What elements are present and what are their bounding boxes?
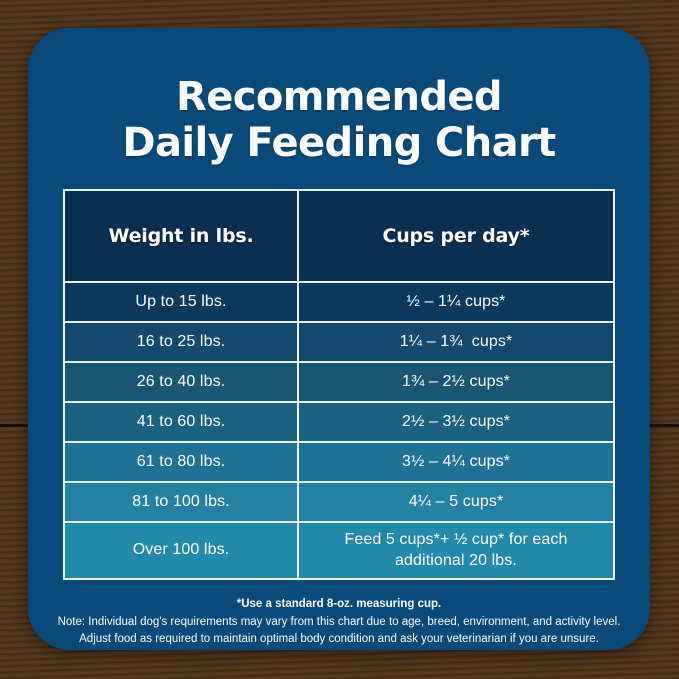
cell-weight: 16 to 25 lbs. [65, 323, 299, 363]
cell-cups: 2½ – 3½ cups* [299, 403, 613, 443]
feeding-chart-card: Recommended Daily Feeding Chart Weight i… [28, 28, 650, 650]
cell-weight: 41 to 60 lbs. [65, 403, 299, 443]
cell-cups: 4¼ – 5 cups* [299, 483, 613, 523]
title-line-1: Recommended [68, 74, 610, 120]
table-row: 16 to 25 lbs.1¼ – 1¾ cups* [65, 323, 613, 363]
cell-weight: 81 to 100 lbs. [65, 483, 299, 523]
wood-background: Recommended Daily Feeding Chart Weight i… [0, 0, 679, 679]
table-row: 41 to 60 lbs.2½ – 3½ cups* [65, 403, 613, 443]
page-title: Recommended Daily Feeding Chart [28, 74, 650, 167]
table-body: Up to 15 lbs.½ – 1¼ cups*16 to 25 lbs.1¼… [65, 283, 613, 578]
cell-cups: Feed 5 cups*+ ½ cup* for each additional… [299, 523, 613, 578]
cell-weight: 26 to 40 lbs. [65, 363, 299, 403]
cell-cups: 1¼ – 1¾ cups* [299, 323, 613, 363]
cell-cups: ½ – 1¼ cups* [299, 283, 613, 323]
feeding-table: Weight in lbs. Cups per day* Up to 15 lb… [63, 189, 615, 580]
column-header-cups: Cups per day* [299, 191, 613, 283]
cell-weight: Up to 15 lbs. [65, 283, 299, 323]
cell-weight: Over 100 lbs. [65, 523, 299, 578]
cell-cups: 3½ – 4¼ cups* [299, 443, 613, 483]
table-row: 81 to 100 lbs.4¼ – 5 cups* [65, 483, 613, 523]
footnotes: *Use a standard 8-oz. measuring cup. Not… [53, 596, 625, 649]
table-header: Weight in lbs. Cups per day* [65, 191, 613, 283]
column-header-weight: Weight in lbs. [65, 191, 299, 283]
table-header-row: Weight in lbs. Cups per day* [65, 191, 613, 283]
table-row: 26 to 40 lbs.1¾ – 2½ cups* [65, 363, 613, 403]
table-row: 61 to 80 lbs.3½ – 4¼ cups* [65, 443, 613, 483]
table-row: Up to 15 lbs.½ – 1¼ cups* [65, 283, 613, 323]
cell-cups: 1¾ – 2½ cups* [299, 363, 613, 403]
table-row: Over 100 lbs.Feed 5 cups*+ ½ cup* for ea… [65, 523, 613, 578]
cell-weight: 61 to 80 lbs. [65, 443, 299, 483]
footnote-note-line-1: Note: Individual dog's requirements may … [53, 614, 625, 632]
title-line-2: Daily Feeding Chart [68, 120, 610, 166]
footnote-measuring-cup: *Use a standard 8-oz. measuring cup. [53, 596, 625, 614]
footnote-note-line-2: Adjust food as required to maintain opti… [53, 631, 625, 649]
